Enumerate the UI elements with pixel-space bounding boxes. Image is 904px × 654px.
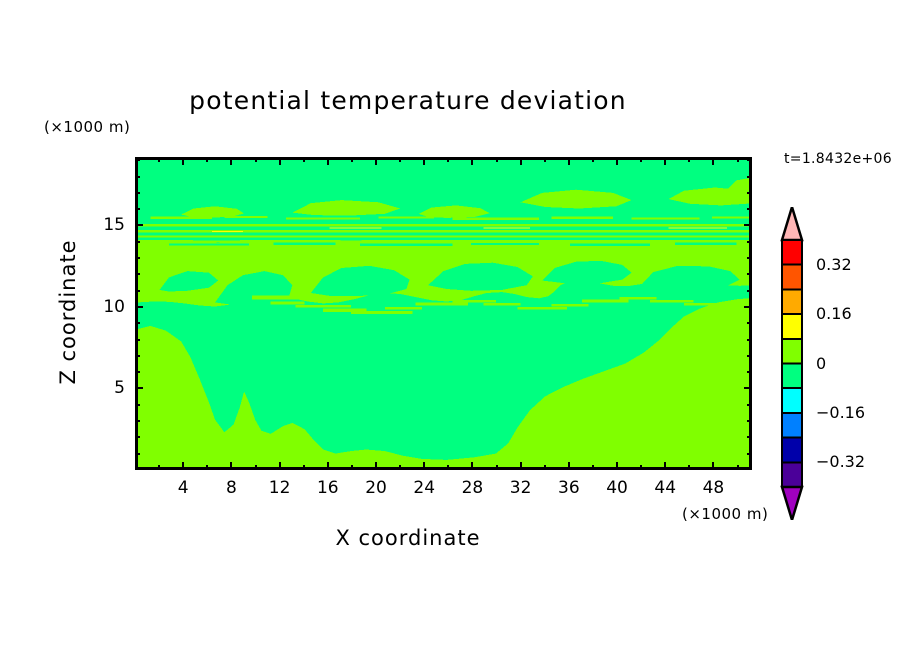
x-tick-mark	[375, 462, 377, 470]
contour-striation-segment	[551, 217, 613, 219]
x-tick-label: 44	[645, 478, 685, 498]
x-tick-minor	[399, 465, 401, 470]
y-tick-mark	[744, 387, 752, 389]
x-tick-mark	[568, 462, 570, 470]
contour-filament	[582, 300, 628, 303]
x-tick-minor	[158, 157, 160, 162]
contour-striation-segment	[360, 244, 453, 246]
y-tick-minor	[135, 290, 140, 292]
y-tick-mark	[744, 224, 752, 226]
contour-filament	[517, 307, 566, 310]
contour-filament	[385, 307, 422, 310]
x-tick-minor	[688, 465, 690, 470]
x-tick-minor	[737, 465, 739, 470]
colorbar-band	[782, 240, 802, 265]
x-tick-mark	[471, 157, 473, 165]
x-tick-minor	[737, 157, 739, 162]
contour-filament	[252, 296, 298, 300]
x-tick-minor	[351, 157, 353, 162]
colorbar-band	[782, 289, 802, 314]
x-tick-mark	[664, 462, 666, 470]
y-tick-minor	[135, 436, 140, 438]
colorbar-tick-label: 0	[816, 354, 826, 373]
y-tick-minor	[135, 273, 140, 275]
contour-filament	[551, 304, 588, 307]
x-tick-label: 32	[501, 478, 541, 498]
contour-striation-segment	[570, 244, 650, 246]
x-tick-minor	[206, 465, 208, 470]
y-tick-minor	[135, 322, 140, 324]
colorbar-band	[782, 413, 802, 438]
x-tick-mark	[520, 462, 522, 470]
x-tick-minor	[592, 157, 594, 162]
x-tick-label: 28	[452, 478, 492, 498]
y-tick-minor	[135, 453, 140, 455]
y-tick-label: 10	[85, 297, 125, 317]
y-tick-minor	[135, 355, 140, 357]
contour-striation-segment	[169, 243, 249, 245]
y-tick-minor	[747, 322, 752, 324]
x-tick-mark	[182, 157, 184, 165]
y-tick-mark	[744, 306, 752, 308]
x-tick-mark	[327, 157, 329, 165]
x-tick-label: 40	[597, 478, 637, 498]
x-tick-mark	[616, 462, 618, 470]
y-tick-minor	[747, 176, 752, 178]
y-tick-minor	[747, 404, 752, 406]
contour-striation-segment	[379, 216, 435, 218]
x-tick-minor	[351, 465, 353, 470]
x-tick-label: 20	[356, 478, 396, 498]
y-tick-minor	[747, 290, 752, 292]
y-tick-minor	[135, 176, 140, 178]
x-tick-minor	[544, 157, 546, 162]
colorbar-tick-label: 0.16	[816, 304, 852, 323]
figure-canvas: potential temperature deviation (×1000 m…	[0, 0, 904, 654]
x-tick-minor	[303, 465, 305, 470]
y-tick-minor	[135, 257, 140, 259]
contour-striation	[138, 224, 752, 227]
contour-striation	[138, 238, 752, 241]
y-tick-minor	[747, 420, 752, 422]
y-tick-minor	[135, 192, 140, 194]
contour-filament	[416, 303, 468, 306]
contour-striation-segment	[453, 218, 539, 220]
contour-striation-segment	[471, 243, 539, 245]
contour-filament-yellow	[329, 228, 381, 229]
colorbar	[779, 207, 805, 520]
contour-filament	[650, 300, 693, 303]
contour-filament-yellow	[212, 231, 243, 232]
y-tick-minor	[135, 339, 140, 341]
contour-filament	[619, 297, 656, 300]
y-tick-minor	[135, 159, 140, 161]
contour-filament	[351, 311, 413, 314]
x-tick-mark	[230, 462, 232, 470]
colorbar-swatches	[779, 207, 805, 520]
x-tick-minor	[447, 157, 449, 162]
x-tick-mark	[327, 462, 329, 470]
colorbar-band	[782, 314, 802, 339]
y-tick-minor	[135, 420, 140, 422]
contour-striation-segment	[632, 217, 700, 219]
y-tick-minor	[135, 241, 140, 243]
contour-filament-yellow	[669, 228, 728, 229]
contour-striation-segment	[274, 243, 336, 245]
y-tick-minor	[747, 159, 752, 161]
contour-striation-segment	[675, 243, 737, 245]
x-tick-minor	[255, 157, 257, 162]
y-tick-minor	[747, 257, 752, 259]
x-tick-mark	[664, 157, 666, 165]
y-tick-minor	[135, 208, 140, 210]
y-tick-minor	[747, 192, 752, 194]
x-tick-minor	[640, 157, 642, 162]
y-tick-minor	[747, 339, 752, 341]
x-tick-mark	[616, 157, 618, 165]
x-tick-mark	[520, 157, 522, 165]
colorbar-band	[782, 339, 802, 364]
x-tick-minor	[640, 465, 642, 470]
x-tick-mark	[279, 157, 281, 165]
contour-striation	[138, 236, 752, 238]
x-tick-minor	[303, 157, 305, 162]
contour-striation-segment	[286, 217, 360, 219]
x-tick-minor	[206, 157, 208, 162]
x-tick-minor	[592, 465, 594, 470]
colorbar-tick-label: −0.32	[816, 452, 865, 471]
colorbar-band	[782, 388, 802, 413]
y-tick-mark	[135, 224, 143, 226]
x-tick-mark	[568, 157, 570, 165]
colorbar-band	[782, 462, 802, 487]
y-tick-mark	[135, 387, 143, 389]
x-tick-label: 8	[211, 478, 251, 498]
x-axis-title: X coordinate	[0, 526, 860, 550]
y-tick-minor	[747, 453, 752, 455]
x-axis-units-label: (×1000 m)	[682, 505, 768, 523]
x-tick-mark	[471, 462, 473, 470]
page-title: potential temperature deviation	[0, 86, 860, 115]
y-tick-minor	[747, 371, 752, 373]
y-tick-minor	[135, 404, 140, 406]
x-tick-mark	[182, 462, 184, 470]
x-tick-minor	[255, 465, 257, 470]
x-tick-label: 4	[163, 478, 203, 498]
y-tick-minor	[747, 241, 752, 243]
x-tick-mark	[423, 462, 425, 470]
colorbar-cap-top	[782, 207, 802, 240]
x-tick-minor	[688, 157, 690, 162]
x-tick-mark	[375, 157, 377, 165]
colorbar-tick-label: 0.32	[816, 255, 852, 274]
colorbar-band	[782, 364, 802, 389]
contour-filament	[484, 303, 521, 306]
x-tick-label: 24	[404, 478, 444, 498]
y-tick-mark	[135, 306, 143, 308]
x-tick-mark	[423, 157, 425, 165]
colorbar-cap-bottom	[782, 487, 802, 520]
colorbar-band	[782, 438, 802, 463]
x-tick-label: 48	[693, 478, 733, 498]
contour-striation	[138, 226, 752, 229]
x-tick-mark	[712, 157, 714, 165]
y-tick-minor	[747, 355, 752, 357]
x-tick-mark	[230, 157, 232, 165]
x-tick-minor	[544, 465, 546, 470]
x-tick-minor	[447, 465, 449, 470]
y-tick-label: 5	[85, 378, 125, 398]
y-tick-label: 15	[85, 215, 125, 235]
x-tick-minor	[496, 157, 498, 162]
x-tick-minor	[158, 465, 160, 470]
colorbar-band	[782, 265, 802, 290]
contour-striation	[138, 240, 752, 242]
contour-striation	[138, 232, 752, 235]
contour-striation-segment	[712, 216, 752, 218]
x-tick-minor	[399, 157, 401, 162]
x-tick-mark	[279, 462, 281, 470]
x-tick-minor	[496, 465, 498, 470]
x-tick-label: 36	[549, 478, 589, 498]
y-tick-minor	[747, 208, 752, 210]
contour-plot-area	[135, 157, 752, 470]
y-tick-minor	[747, 273, 752, 275]
contour-field	[138, 160, 752, 470]
contour-filament	[453, 300, 496, 303]
x-tick-label: 16	[308, 478, 348, 498]
contour-filament	[271, 301, 305, 304]
y-axis-units-label: (×1000 m)	[44, 118, 130, 136]
contour-filament	[684, 303, 724, 306]
colorbar-tick-label: −0.16	[816, 403, 865, 422]
x-tick-label: 12	[260, 478, 300, 498]
time-annotation: t=1.8432e+06	[784, 151, 892, 167]
contour-filament	[295, 305, 351, 308]
y-tick-minor	[747, 436, 752, 438]
x-tick-mark	[712, 462, 714, 470]
y-axis-title: Z coordinate	[56, 212, 80, 412]
y-tick-minor	[135, 371, 140, 373]
contour-filament-yellow	[484, 228, 530, 229]
